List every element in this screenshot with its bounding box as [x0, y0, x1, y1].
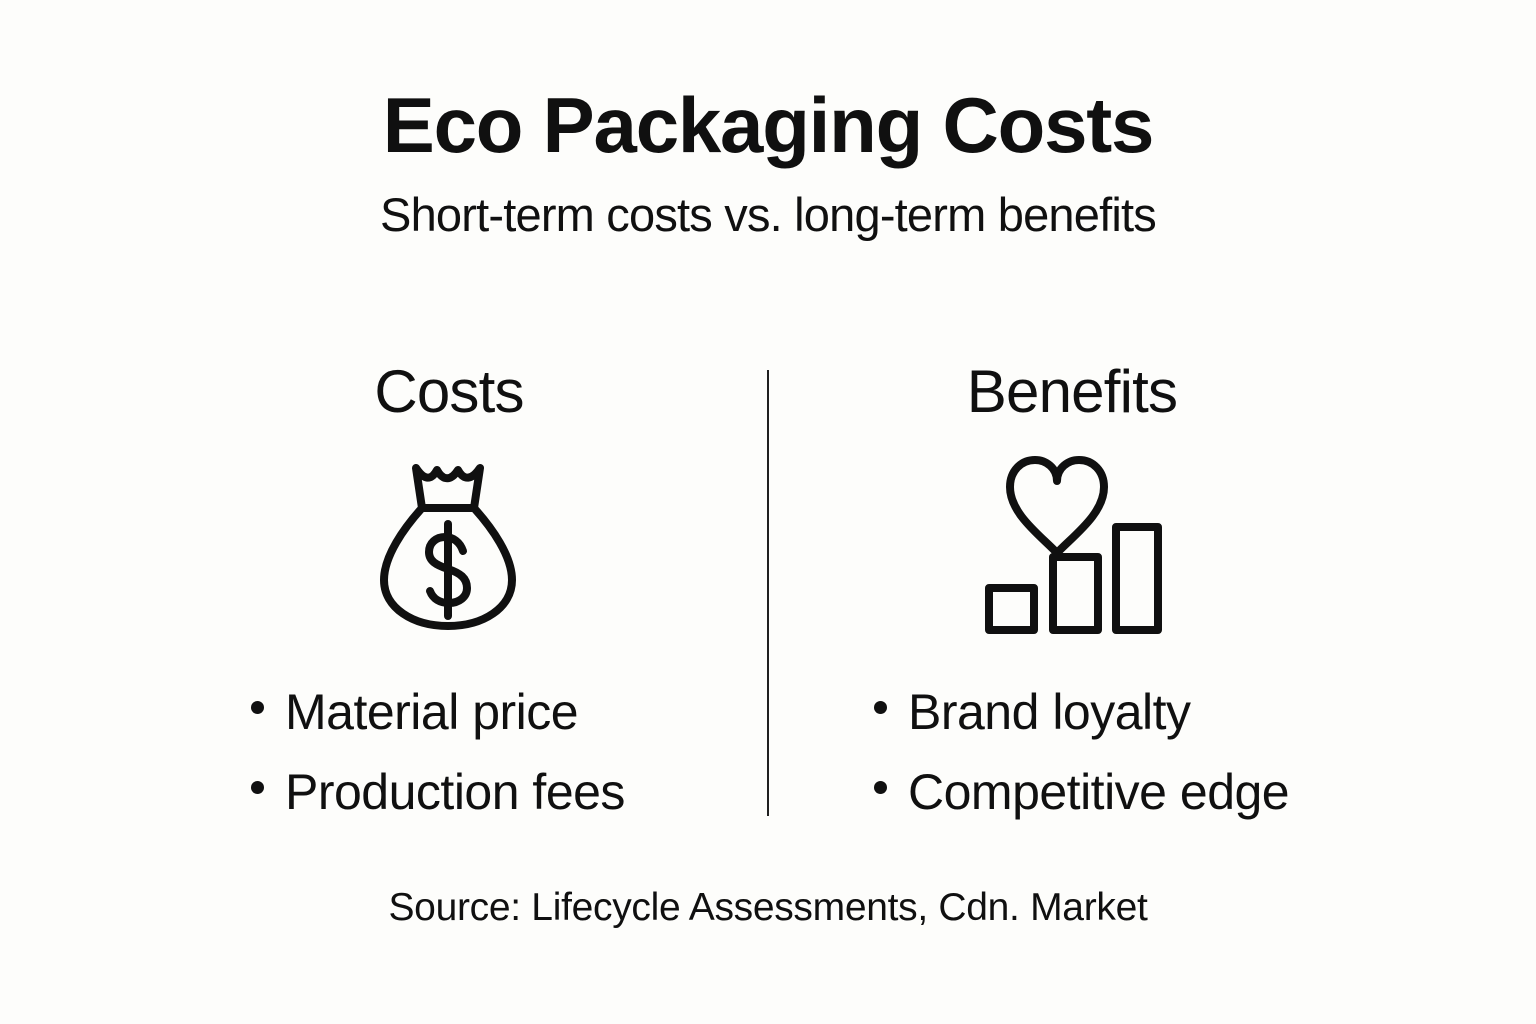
bullet-dot-icon: [874, 781, 887, 794]
infographic-slide: Eco Packaging Costs Short-term costs vs.…: [0, 0, 1536, 1024]
heart-icon: [1010, 460, 1104, 553]
bullet-dot-icon: [251, 781, 264, 794]
column-benefits: Benefits Br: [792, 360, 1352, 830]
list-item: Production fees: [251, 752, 811, 832]
benefits-list: Brand loyalty Competitive edge: [792, 672, 1434, 832]
column-benefits-heading: Benefits: [792, 360, 1352, 423]
bullet-dot-icon: [874, 701, 887, 714]
list-item: Competitive edge: [874, 752, 1434, 832]
list-item: Brand loyalty: [874, 672, 1434, 752]
list-item: Material price: [251, 672, 811, 752]
list-item-label: Material price: [285, 672, 578, 752]
list-item-label: Competitive edge: [908, 752, 1289, 832]
page-subtitle: Short-term costs vs. long-term benefits: [0, 164, 1536, 238]
column-costs: Costs Material price: [169, 360, 729, 830]
money-bag-icon: [169, 456, 729, 651]
source-note: Source: Lifecycle Assessments, Cdn. Mark…: [0, 888, 1536, 927]
page-title: Eco Packaging Costs: [0, 86, 1536, 164]
column-costs-heading: Costs: [169, 360, 729, 423]
header: Eco Packaging Costs Short-term costs vs.…: [0, 86, 1536, 238]
list-item-label: Brand loyalty: [908, 672, 1191, 752]
heart-with-bar-chart-icon: [792, 456, 1352, 651]
bullet-dot-icon: [251, 701, 264, 714]
list-item-label: Production fees: [285, 752, 625, 832]
costs-list: Material price Production fees: [169, 672, 811, 832]
column-divider: [767, 370, 769, 816]
